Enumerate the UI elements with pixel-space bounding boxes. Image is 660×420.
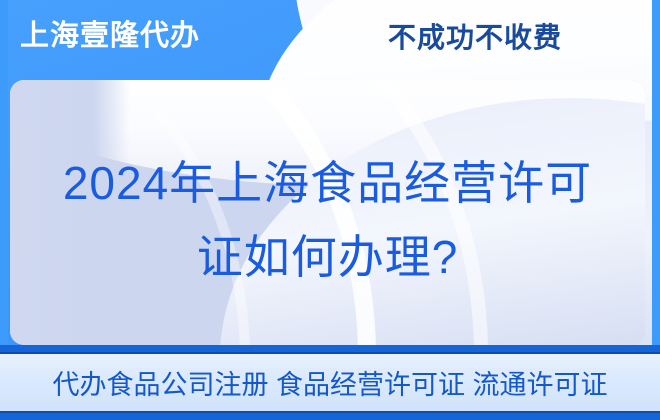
brand-title: 上海壹隆代办 — [20, 18, 200, 54]
headline-group: 2024年上海食品经营许可 证如何办理? — [10, 80, 645, 345]
headline-line-2: 证如何办理? — [197, 220, 459, 294]
keyword-footer-bar: 代办食品公司注册 食品经营许可证 流通许可证 — [0, 345, 660, 420]
main-content-card: 2024年上海食品经营许可 证如何办理? — [10, 80, 645, 345]
headline-line-1: 2024年上海食品经营许可 — [63, 146, 592, 220]
promo-banner: 上海壹隆代办 不成功不收费 2024年上海食品经营许可 证如何办理? 代办食品公… — [0, 0, 660, 420]
footer-keywords: 代办食品公司注册 食品经营许可证 流通许可证 — [52, 363, 607, 402]
slogan-text: 不成功不收费 — [388, 20, 562, 56]
